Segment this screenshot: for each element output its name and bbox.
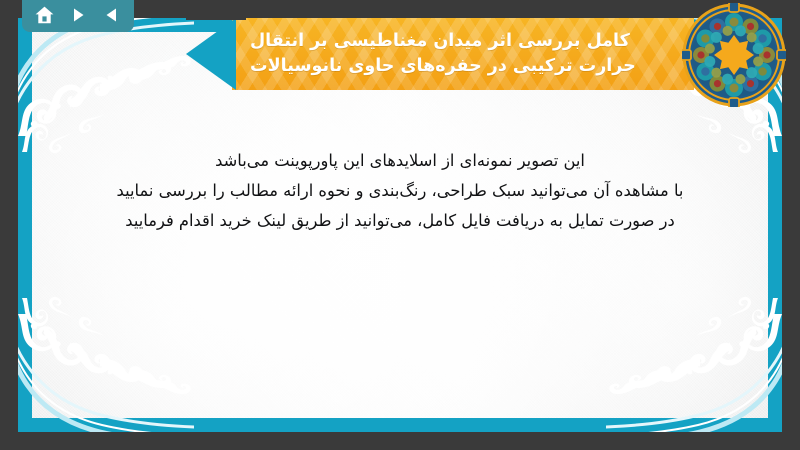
back-button[interactable] [99, 3, 125, 27]
body-line-1: این تصویر نمونه‌ای از اسلایدهای این پاور… [44, 146, 756, 176]
home-icon [35, 6, 54, 24]
triangle-right-icon [70, 7, 86, 23]
triangle-left-icon [104, 7, 120, 23]
slide-title-banner: کامل بررسی اثر میدان مغناطیسی بر انتقال … [232, 18, 694, 90]
forward-button[interactable] [65, 3, 91, 27]
body-line-3: در صورت تمایل به دریافت فایل کامل، می‌تو… [44, 206, 756, 236]
banner-top-wedge [186, 0, 246, 20]
body-line-2: با مشاهده آن می‌توانید سبک طراحی، رنگ‌بن… [44, 176, 756, 206]
title-line-1: کامل بررسی اثر میدان مغناطیسی بر انتقال [250, 29, 630, 54]
home-button[interactable] [31, 3, 57, 27]
slide-stage: این تصویر نمونه‌ای از اسلایدهای این پاور… [0, 0, 800, 450]
navigation-bar[interactable] [22, 0, 134, 32]
persian-medallion-ornament [682, 3, 786, 107]
title-line-2: حرارت ترکیبی در حفره‌های حاوی نانوسیالات [250, 54, 636, 79]
slide-body-text: این تصویر نمونه‌ای از اسلایدهای این پاور… [18, 146, 782, 236]
